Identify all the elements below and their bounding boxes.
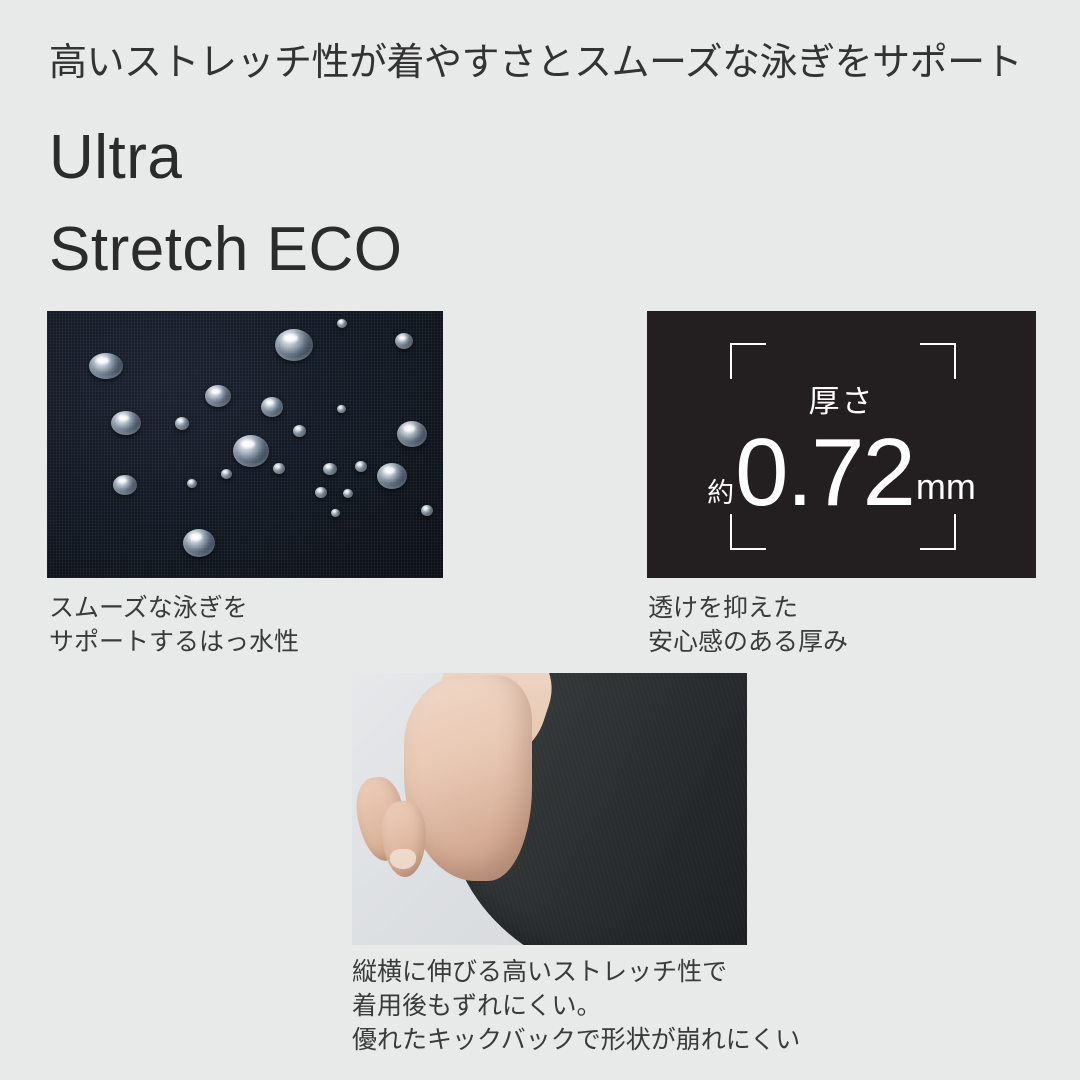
water-droplet: [275, 329, 313, 361]
water-droplet: [221, 469, 232, 479]
corner-bracket-top-right-icon: [920, 343, 956, 379]
thickness-value-group: 約 0.72 mm: [647, 429, 1036, 517]
thickness-panel: 厚さ 約 0.72 mm: [647, 311, 1036, 578]
corner-bracket-bottom-right-icon: [920, 514, 956, 550]
water-droplet: [395, 333, 413, 349]
water-droplet: [421, 505, 433, 516]
water-droplet: [293, 425, 306, 437]
stretch-caption: 縦横に伸びる高いストレッチ性で 着用後もずれにくい。 優れたキックバックで形状が…: [352, 955, 800, 1057]
water-droplet: [397, 421, 427, 447]
page-title-line-1: Ultra: [49, 112, 403, 204]
water-droplet: [187, 479, 197, 488]
water-droplet: [337, 319, 347, 328]
water-droplet: [183, 529, 215, 557]
water-droplet: [323, 463, 337, 475]
page-eyebrow: 高いストレッチ性が着やすさとスムーズな泳ぎをサポート: [49, 38, 1022, 88]
water-droplet: [205, 385, 231, 407]
water-droplet: [337, 405, 346, 413]
thickness-panel-content: 厚さ 約 0.72 mm: [647, 311, 1036, 578]
thickness-value: 0.72: [735, 429, 914, 517]
page-title-line-2: Stretch ECO: [49, 204, 403, 296]
thickness-caption: 透けを抑えた 安心感のある厚み: [648, 591, 848, 659]
water-repellent-caption: スムーズな泳ぎを サポートするはっ水性: [49, 591, 299, 659]
water-droplet: [175, 417, 189, 430]
water-droplet: [89, 353, 123, 379]
water-droplet: [111, 411, 141, 435]
water-droplet: [315, 487, 327, 498]
water-droplet: [355, 461, 367, 472]
water-droplet: [233, 435, 269, 467]
water-droplet: [113, 475, 137, 495]
page-title: Ultra Stretch ECO: [49, 112, 403, 296]
fingernail: [390, 849, 416, 869]
water-droplet: [343, 489, 353, 498]
corner-bracket-top-left-icon: [730, 343, 766, 379]
thickness-approx-prefix: 約: [707, 480, 734, 517]
product-feature-page: 高いストレッチ性が着やすさとスムーズな泳ぎをサポート Ultra Stretch…: [0, 0, 1080, 1080]
water-droplet: [377, 463, 407, 489]
thickness-label: 厚さ: [647, 385, 1036, 419]
thickness-unit: mm: [916, 469, 976, 517]
stretch-image: [352, 673, 747, 945]
water-droplet: [261, 397, 283, 417]
water-repellent-image: [47, 311, 443, 578]
water-droplet: [331, 509, 340, 517]
water-droplet: [273, 463, 285, 474]
